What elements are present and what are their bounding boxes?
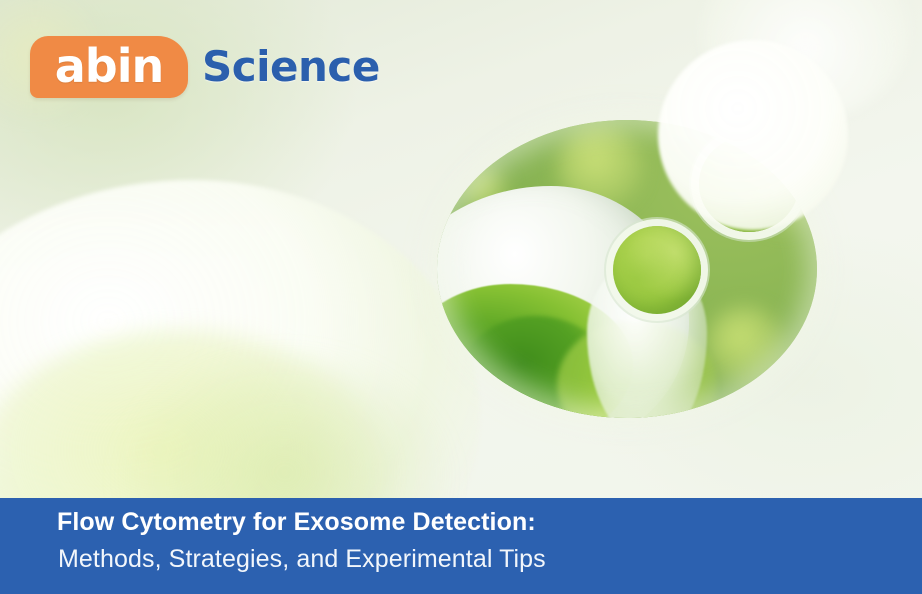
logo-wordmark-science: Science (202, 46, 380, 88)
oval-bokeh-sphere-3 (705, 306, 785, 386)
logo-mark-label: abin (55, 43, 163, 89)
logo-mark-abin: abin (30, 36, 188, 98)
title-banner: Flow Cytometry for Exosome Detection: Me… (0, 498, 922, 594)
title-line-secondary: Methods, Strategies, and Experimental Ti… (58, 545, 546, 574)
oval-exosome-middle-texture (613, 226, 701, 314)
abin-science-logo[interactable]: abin Science (30, 36, 380, 98)
title-line-primary: Flow Cytometry for Exosome Detection: (57, 508, 536, 537)
foreground-white-cell-top-right (658, 40, 848, 230)
promotional-banner: abin Science Flow Cytometry for Exosome … (0, 0, 922, 594)
oval-exosome-middle (613, 226, 701, 314)
